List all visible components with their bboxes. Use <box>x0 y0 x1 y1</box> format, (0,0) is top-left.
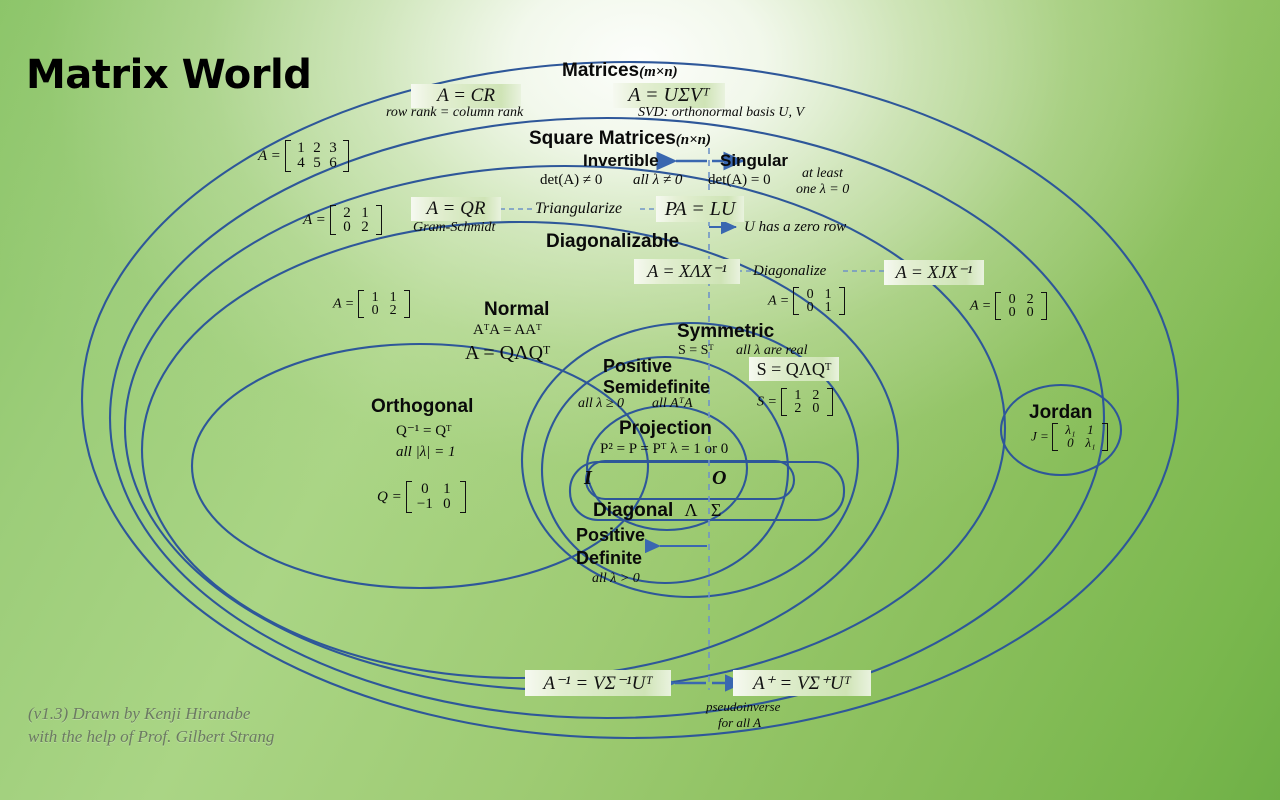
pd-condition: all λ > 0 <box>592 571 640 586</box>
diagonal-text: Diagonal <box>593 500 673 521</box>
caption-svd: SVD: orthonormal basis U, V <box>638 105 804 120</box>
label-u-zero-row: U has a zero row <box>744 219 846 235</box>
caption-cr: row rank = column rank <box>386 105 523 120</box>
example-jordan-lhs: J = <box>1031 428 1049 443</box>
region-label-psd-line1: Positive <box>603 357 672 376</box>
invertible-lambda: all λ ≠ 0 <box>633 172 682 188</box>
example-mn-lhs: A = <box>258 148 281 164</box>
singular-det: det(A) = 0 <box>708 172 771 188</box>
region-label-symmetric: Symmetric <box>677 322 774 343</box>
example-diag-lhs: A = <box>768 294 789 309</box>
region-label-diagonal: Diagonal Λ Σ <box>593 501 721 522</box>
matrices-size: (m×n) <box>639 64 678 80</box>
region-label-jordan: Jordan <box>1029 403 1092 424</box>
formula-pseudoinverse: A⁺ = VΣ⁺Uᵀ <box>753 672 851 695</box>
formula-chip-lu: PA = LU <box>656 196 744 222</box>
diagram-canvas: Matrix World Matrices(m×n) A = UΣVᵀ SVD:… <box>0 0 1280 800</box>
square-text: Square Matrices <box>529 128 676 149</box>
example-matrix-symmetric: S = 1 2 2 0 <box>757 388 833 416</box>
formula-chip-jordan-form: A = XJX⁻¹ <box>884 260 984 285</box>
example-matrix-diagonalizable: A = 0 1 0 1 <box>768 287 845 315</box>
formula-lu: PA = LU <box>665 198 736 221</box>
region-label-diagonalizable: Diagonalizable <box>546 232 679 253</box>
example-sym-lhs: S = <box>757 395 777 410</box>
region-label-zero: O <box>712 468 726 490</box>
label-triangularize: Triangularize <box>535 200 622 217</box>
invertible-det: det(A) ≠ 0 <box>540 172 602 188</box>
normal-factorization: A = QΛQᵀ <box>465 343 550 365</box>
example-matrix-orthogonal: Q = 0 1 −1 0 <box>377 481 466 513</box>
symmetric-condition-2: all λ are real <box>736 343 808 358</box>
example-matrix-square: A = 2 1 0 2 <box>303 205 382 235</box>
formula-chip-symmetric-factorization: S = QΛQᵀ <box>749 357 839 381</box>
singular-note-1: at least <box>802 166 843 181</box>
region-label-square-matrices: Square Matrices(n×n) <box>529 129 711 150</box>
formula-qr: A = QR <box>427 198 486 220</box>
projection-condition: P² = P = Pᵀ λ = 1 or 0 <box>600 441 728 457</box>
region-label-normal: Normal <box>484 300 549 321</box>
formula-jordan-form: A = XJX⁻¹ <box>896 262 973 283</box>
formula-cr: A = CR <box>437 85 495 107</box>
symmetric-factorization: S = QΛQᵀ <box>757 359 832 380</box>
example-matrix-mn: A = 1 2 3 4 5 6 <box>258 140 349 172</box>
symmetric-condition: S = Sᵀ <box>678 343 714 358</box>
region-label-pd-line2: Definite <box>576 549 642 568</box>
pseudoinverse-caption-2: for all A <box>718 716 761 730</box>
example-normal-lhs: A = <box>333 297 354 312</box>
example-matrix-nondiagonalizable: A = 0 2 0 0 <box>970 292 1047 320</box>
singular-note-2: one λ = 0 <box>796 182 849 197</box>
orthogonal-condition: Q⁻¹ = Qᵀ <box>396 423 451 439</box>
example-orth-lhs: Q = <box>377 489 402 505</box>
formula-chip-eigendecomposition: A = XΛX⁻¹ <box>634 259 740 284</box>
orthogonal-condition-2: all |λ| = 1 <box>396 444 455 460</box>
invertible-label: Invertible <box>583 152 659 170</box>
region-label-identity: I <box>584 468 592 490</box>
region-label-matrices: Matrices(m×n) <box>562 61 678 82</box>
diagonal-sigma-symbol: Σ <box>703 500 721 520</box>
page-title: Matrix World <box>26 52 311 98</box>
formula-chip-qr: A = QR <box>411 197 501 221</box>
region-label-pd-line1: Positive <box>576 526 645 545</box>
credits-line-1: (v1.3) Drawn by Kenji Hiranabe <box>28 702 274 725</box>
normal-condition: AᵀA = AAᵀ <box>473 322 542 338</box>
formula-chip-inverse-svd: A⁻¹ = VΣ⁻¹Uᵀ <box>525 670 671 696</box>
formula-inverse-svd: A⁻¹ = VΣ⁻¹Uᵀ <box>543 672 652 695</box>
formula-chip-pseudoinverse: A⁺ = VΣ⁺Uᵀ <box>733 670 871 696</box>
matrices-text: Matrices <box>562 60 639 81</box>
formula-svd: A = UΣVᵀ <box>628 84 710 107</box>
singular-label: Singular <box>720 152 788 170</box>
region-label-psd-line2: Semidefinite <box>603 378 710 397</box>
credits: (v1.3) Drawn by Kenji Hiranabe with the … <box>28 702 274 749</box>
psd-condition: all λ ≥ 0 <box>578 396 624 411</box>
square-size: (n×n) <box>676 132 711 148</box>
psd-condition-2: all AᵀA <box>652 396 693 411</box>
diagonal-lambda-symbol: Λ <box>679 500 698 520</box>
label-diagonalize: Diagonalize <box>753 263 826 279</box>
credits-line-2: with the help of Prof. Gilbert Strang <box>28 725 274 748</box>
region-label-projection: Projection <box>619 419 712 440</box>
example-matrix-normal: A = 1 1 0 2 <box>333 290 410 318</box>
region-label-orthogonal: Orthogonal <box>371 397 473 418</box>
rect-identity-zero <box>586 461 794 499</box>
pseudoinverse-caption-1: pseudoinverse <box>706 700 780 714</box>
example-square-lhs: A = <box>303 212 326 228</box>
caption-gram-schmidt: Gram-Schmidt <box>413 220 495 235</box>
example-nondiag-lhs: A = <box>970 299 991 314</box>
formula-eigendecomposition: A = XΛX⁻¹ <box>647 261 727 282</box>
example-matrix-jordan: J = λ₁ 1 0 λ₁ <box>1031 423 1108 451</box>
